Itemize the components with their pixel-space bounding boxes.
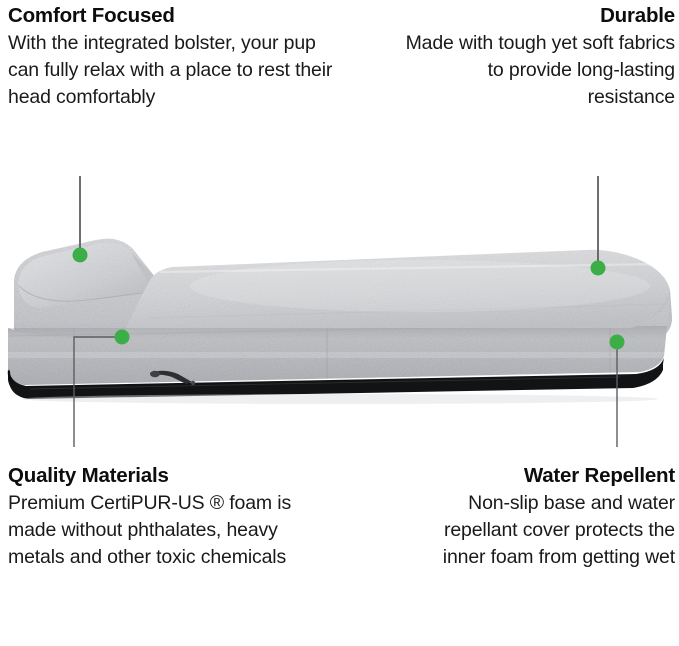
feature-heading-quality: Quality Materials bbox=[8, 463, 318, 489]
feature-body-durable: Made with tough yet soft fabrics to prov… bbox=[405, 30, 675, 112]
feature-block-durable: Durable Made with tough yet soft fabrics… bbox=[405, 3, 675, 112]
feature-body-water: Non-slip base and water repellant cover … bbox=[400, 490, 675, 572]
mattress-cushion bbox=[120, 250, 672, 340]
feature-block-quality: Quality Materials Premium CertiPUR-US ® … bbox=[8, 463, 318, 572]
feature-block-comfort: Comfort Focused With the integrated bols… bbox=[8, 3, 338, 112]
feature-block-water: Water Repellent Non-slip base and water … bbox=[400, 463, 675, 572]
feature-heading-water: Water Repellent bbox=[400, 463, 675, 489]
feature-body-quality: Premium CertiPUR-US ® foam is made witho… bbox=[8, 490, 318, 572]
feature-heading-comfort: Comfort Focused bbox=[8, 3, 338, 29]
dog-bed-illustration bbox=[0, 168, 679, 408]
contact-shadow bbox=[22, 394, 658, 404]
feature-heading-durable: Durable bbox=[405, 3, 675, 29]
feature-body-comfort: With the integrated bolster, your pup ca… bbox=[8, 30, 338, 112]
product-image bbox=[0, 168, 679, 408]
